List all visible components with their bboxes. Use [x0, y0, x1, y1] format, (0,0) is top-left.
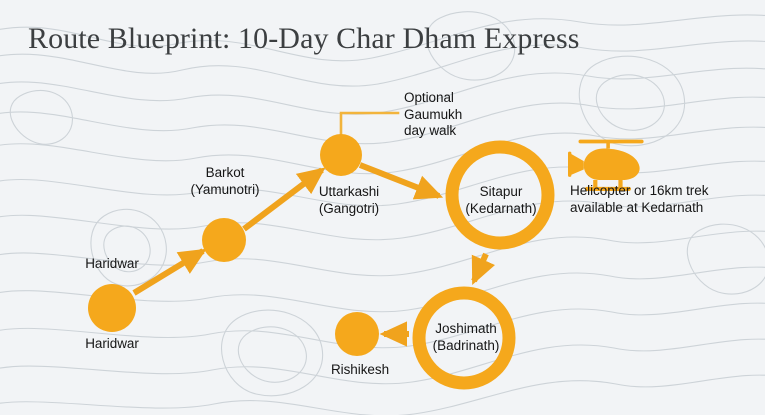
node-rishikesh[interactable] — [335, 312, 379, 356]
node-haridwar[interactable] — [88, 284, 136, 332]
infographic-canvas: Route Blueprint: 10-Day Char Dham Expres… — [0, 0, 765, 415]
node-label-barkot: Barkot (Yamunotri) — [191, 165, 260, 198]
node-label-sitapur: Sitapur (Kedarnath) — [465, 183, 536, 217]
helicopter-note-label: Helicopter or 16km trek available at Ked… — [570, 183, 708, 216]
node-label-haridwar-top: Haridwar — [85, 256, 139, 273]
node-uttarkashi[interactable] — [320, 134, 362, 176]
node-barkot[interactable] — [202, 218, 246, 262]
callout-gaumukh-label: Optional Gaumukh day walk — [404, 90, 462, 140]
node-label-uttarkashi: Uttarkashi (Gangotri) — [319, 184, 379, 217]
node-label-haridwar-bottom: Haridwar — [85, 336, 139, 353]
edge-sitapur-joshimath — [474, 254, 486, 281]
edge-haridwar-barkot — [134, 251, 203, 293]
node-label-rishikesh: Rishikesh — [331, 362, 389, 379]
node-label-joshimath: Joshimath (Badrinath) — [433, 320, 500, 354]
